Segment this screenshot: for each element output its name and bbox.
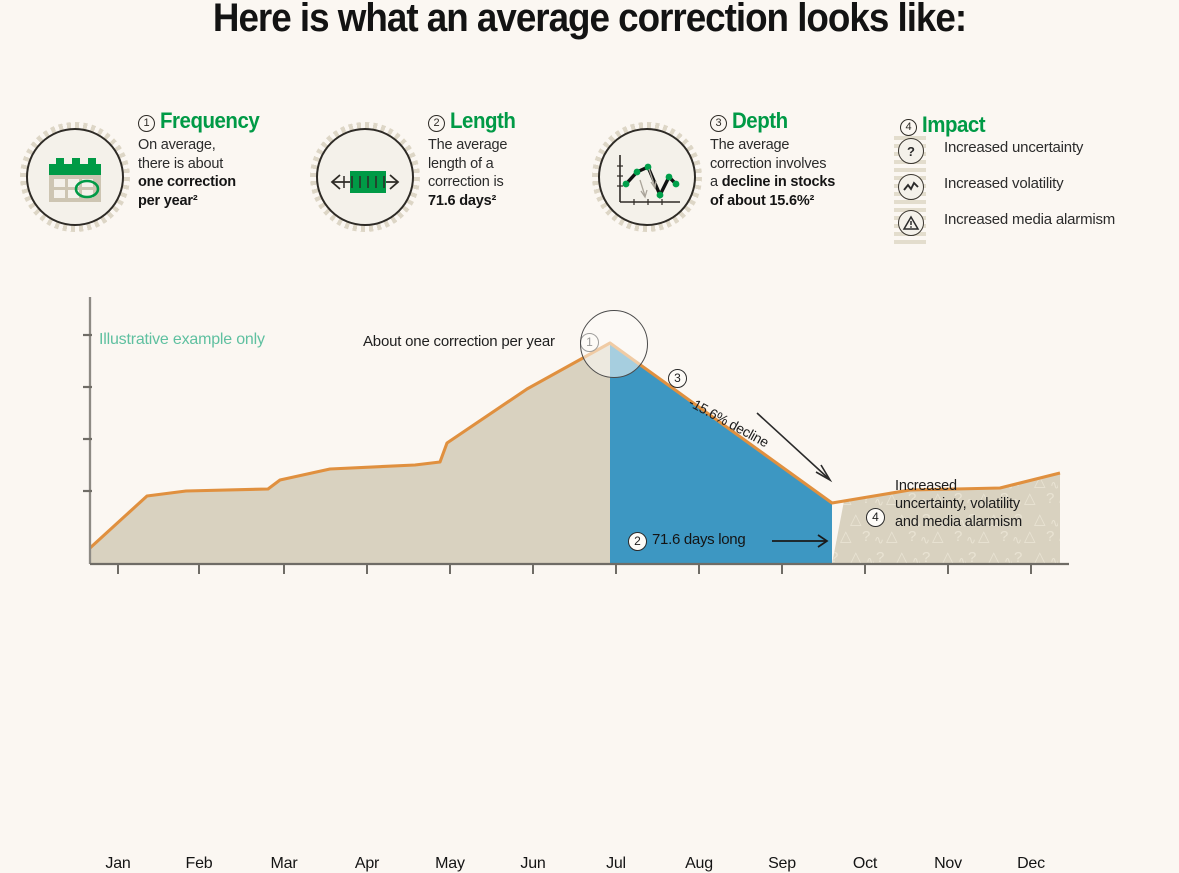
x-label-jun: Jun	[503, 855, 563, 873]
market-correction-chart: Hypothetical Market Level ?△ △? ∿∿	[0, 283, 1179, 608]
x-label-oct: Oct	[835, 855, 895, 873]
page-title: Here is what an average correction looks…	[47, 0, 1132, 41]
line-1: The average	[710, 137, 789, 153]
x-axis-ticks	[118, 564, 1031, 574]
peak-highlight-circle	[580, 310, 648, 378]
feature-body-frequency: On average, there is about one correctio…	[138, 136, 298, 210]
x-label-nov: Nov	[918, 855, 978, 873]
feature-heading-depth: Depth	[732, 108, 788, 134]
feature-card-depth: 3Depth The average correction involves a…	[592, 108, 882, 258]
question-mark-icon: ?	[898, 138, 924, 164]
ruler-icon	[310, 122, 420, 232]
warning-triangle-icon	[898, 210, 924, 236]
calendar-icon	[20, 122, 130, 232]
line-1: The average	[428, 137, 507, 153]
x-label-sep: Sep	[752, 855, 812, 873]
impact-label-volatility: Increased volatility	[944, 175, 1063, 192]
line-4: of about 15.6%²	[710, 193, 814, 209]
impact-note-line-1: Increased	[895, 478, 957, 494]
impact-note-line-2: uncertainty, volatility	[895, 496, 1020, 512]
line-3: correction is	[428, 174, 504, 190]
line-4: 71.6 days²	[428, 193, 496, 209]
x-label-jan: Jan	[88, 855, 148, 873]
feature-body-depth: The average correction involves a declin…	[710, 136, 885, 210]
area-pre-correction	[90, 343, 610, 564]
feature-heading-length: Length	[450, 108, 515, 134]
x-label-feb: Feb	[169, 855, 229, 873]
line-2: correction involves	[710, 156, 826, 172]
impact-note-line-3: and media alarmism	[895, 514, 1022, 530]
feature-card-length: 2Length The average length of a correcti…	[310, 108, 580, 258]
line-3: one correction	[138, 174, 236, 190]
feature-card-impact: 4Impact	[900, 112, 990, 138]
annotation-3-number: 3	[668, 369, 687, 388]
feature-heading-impact: Impact	[922, 112, 985, 138]
x-label-may: May	[420, 855, 480, 873]
line-3b: decline in stocks	[722, 174, 835, 190]
annotation-1-text: About one correction per year	[363, 333, 555, 350]
annotation-4-number: 4	[866, 508, 885, 527]
volatility-wave-icon	[898, 174, 924, 200]
feature-number-4: 4	[900, 119, 917, 136]
impact-label-uncertainty: Increased uncertainty	[944, 139, 1083, 156]
feature-number-3: 3	[710, 115, 727, 132]
depth-badge	[592, 122, 702, 232]
line-2: there is about	[138, 156, 223, 172]
impact-label-alarmism: Increased media alarmism	[944, 211, 1115, 228]
x-label-jul: Jul	[586, 855, 646, 873]
feature-heading-frequency: Frequency	[160, 108, 259, 134]
feature-number-2: 2	[428, 115, 445, 132]
line-1: On average,	[138, 137, 216, 153]
annotation-4-text: Increased uncertainty, volatility and me…	[895, 477, 1022, 531]
declining-chart-icon	[592, 122, 702, 232]
line-3a: a	[710, 174, 722, 190]
illustrative-note: Illustrative example only	[99, 331, 265, 349]
line-2: length of a	[428, 156, 494, 172]
x-label-mar: Mar	[254, 855, 314, 873]
triangle-glyph	[902, 215, 920, 231]
x-label-dec: Dec	[1001, 855, 1061, 873]
annotation-2-text: 71.6 days long	[652, 531, 745, 548]
feature-number-1: 1	[138, 115, 155, 132]
annotation-2-number: 2	[628, 532, 647, 551]
frequency-badge	[20, 122, 130, 232]
feature-body-length: The average length of a correction is 71…	[428, 136, 588, 210]
length-badge	[310, 122, 420, 232]
line-4: per year²	[138, 193, 197, 209]
x-label-apr: Apr	[337, 855, 397, 873]
x-label-aug: Aug	[669, 855, 729, 873]
feature-card-frequency: 1Frequency On average, there is about on…	[20, 108, 300, 258]
wave-glyph	[902, 180, 920, 194]
